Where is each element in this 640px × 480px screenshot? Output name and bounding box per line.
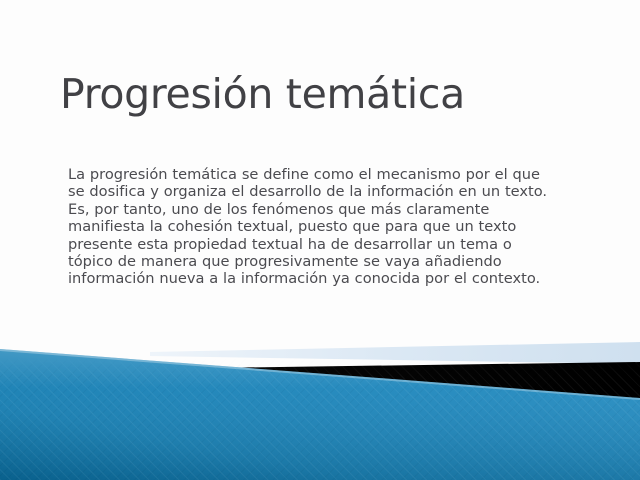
pale-angle-sliver bbox=[150, 342, 640, 364]
page-title: Progresión temática bbox=[60, 72, 580, 118]
angles-footer-svg bbox=[0, 330, 640, 480]
footer-decoration bbox=[0, 330, 640, 480]
slide-canvas: Progresión temática La progresión temáti… bbox=[0, 0, 640, 480]
slide-body-text: La progresión temática se define como el… bbox=[68, 166, 560, 288]
